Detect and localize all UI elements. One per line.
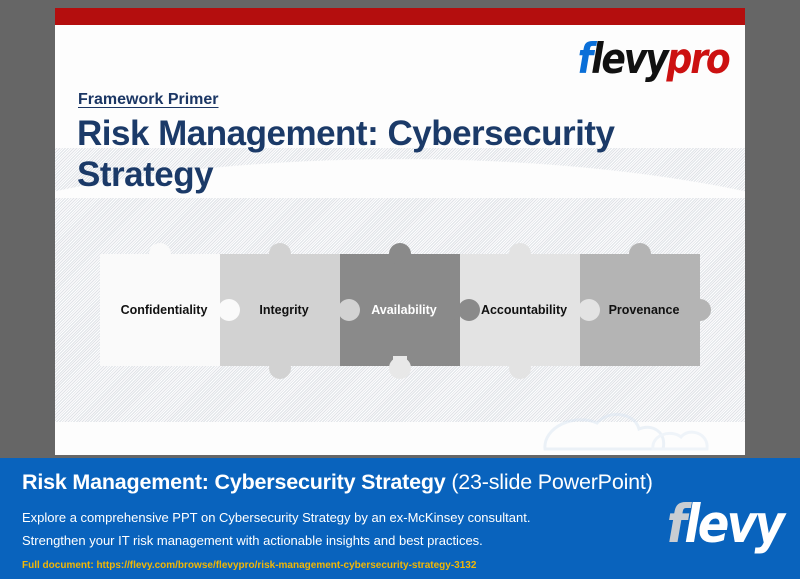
puzzle-piece-confidentiality: Confidentiality bbox=[100, 254, 220, 366]
slide-preview[interactable]: flevypro Framework Primer Risk Managemen… bbox=[55, 8, 745, 455]
puzzle-piece-label: Availability bbox=[340, 254, 460, 366]
puzzle-piece-label: Provenance bbox=[580, 254, 700, 366]
puzzle-piece-label: Accountability bbox=[460, 254, 580, 366]
product-title: Risk Management: Cybersecurity Strategy … bbox=[22, 470, 800, 495]
flevypro-logo: flevypro bbox=[578, 38, 729, 80]
product-title-meta: (23-slide PowerPoint) bbox=[446, 470, 653, 494]
puzzle-piece-accountability: Accountability bbox=[460, 254, 580, 366]
slide-eyebrow: Framework Primer bbox=[78, 91, 219, 109]
flevypro-logo-f: f bbox=[578, 34, 592, 83]
flevy-logo-f: f bbox=[666, 494, 684, 555]
puzzle-piece-label: Integrity bbox=[220, 254, 340, 366]
product-banner: Risk Management: Cybersecurity Strategy … bbox=[0, 458, 800, 579]
puzzle-piece-provenance: Provenance bbox=[580, 254, 700, 366]
flevypro-logo-pro: pro bbox=[667, 34, 729, 83]
screenshot-root: flevypro Framework Primer Risk Managemen… bbox=[0, 0, 800, 579]
puzzle-piece-availability: Availability bbox=[340, 254, 460, 366]
page-title: Risk Management: Cybersecurity Strategy bbox=[77, 113, 697, 196]
flevy-logo-levy: levy bbox=[684, 494, 782, 555]
product-title-main: Risk Management: Cybersecurity Strategy bbox=[22, 470, 446, 494]
flevy-logo: flevy bbox=[666, 498, 782, 551]
puzzle-piece-integrity: Integrity bbox=[220, 254, 340, 366]
cloud-watermark-icon bbox=[535, 409, 725, 453]
flevypro-logo-levy: levy bbox=[592, 34, 667, 83]
slide-top-red-bar bbox=[55, 8, 745, 25]
puzzle-piece-label: Confidentiality bbox=[100, 254, 220, 366]
puzzle-diagram: ConfidentialityIntegrityAvailabilityAcco… bbox=[55, 236, 745, 391]
full-document-link[interactable]: Full document: https://flevy.com/browse/… bbox=[22, 560, 800, 571]
